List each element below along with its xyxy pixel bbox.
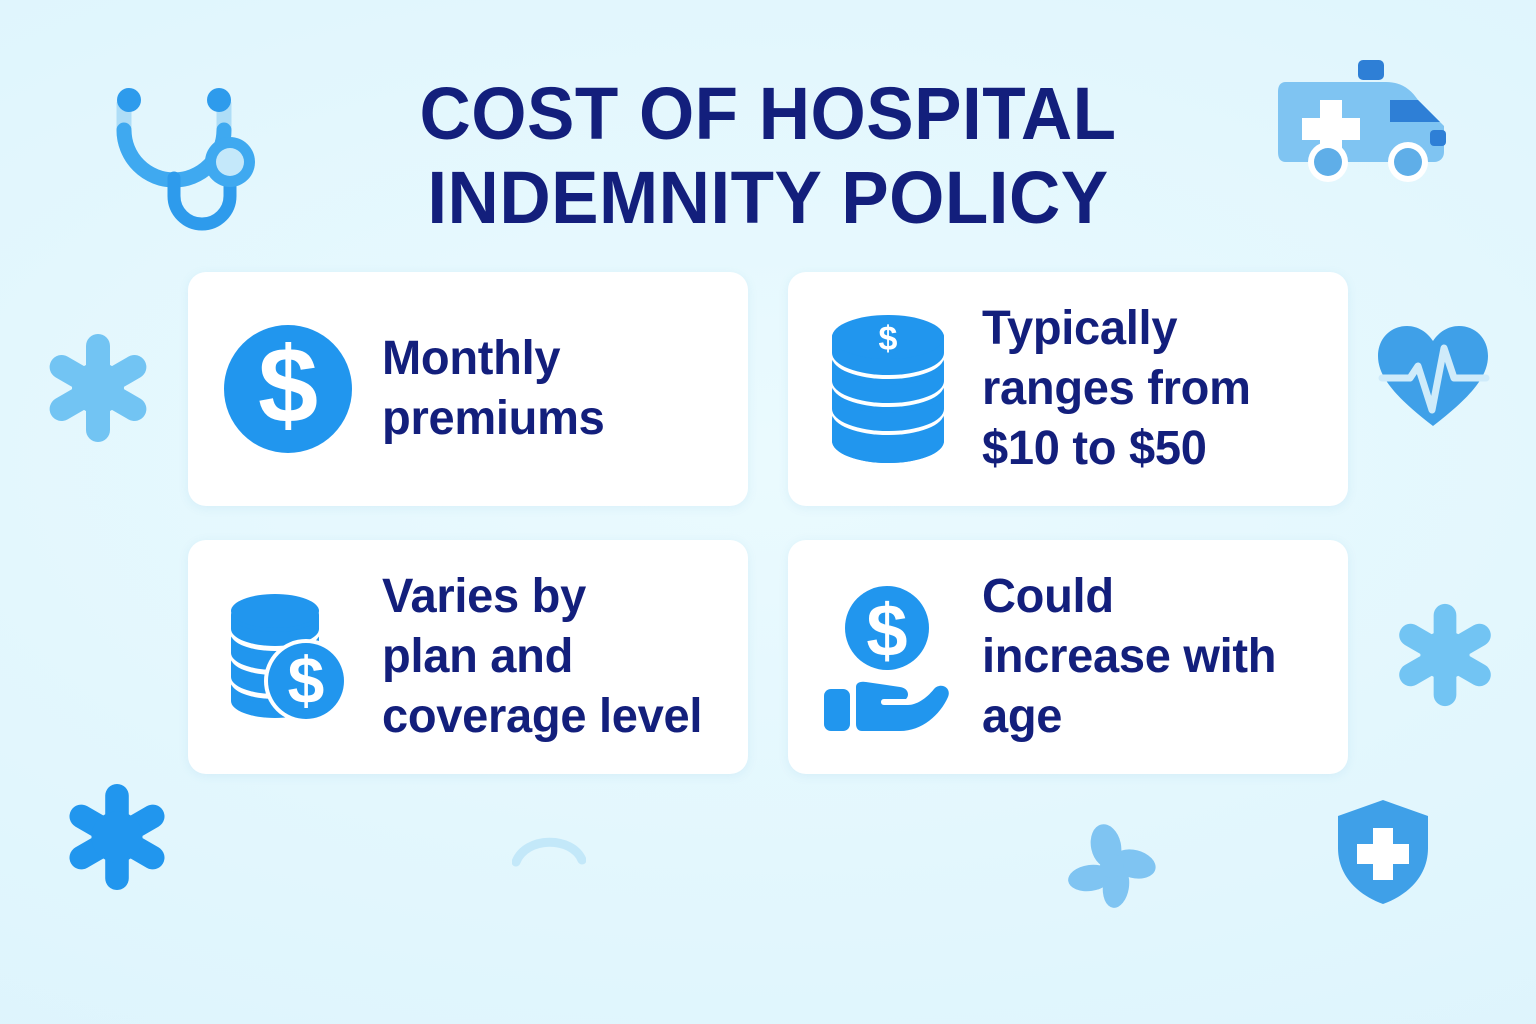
heart-pulse-icon: [1374, 322, 1492, 432]
card-increase-with-age[interactable]: $ Could increase with age: [788, 540, 1348, 774]
asterisk-icon: [62, 782, 172, 892]
svg-text:$: $: [866, 589, 907, 672]
asterisk-icon: [1392, 602, 1498, 708]
dollar-coin-icon: $: [222, 314, 354, 464]
svg-text:$: $: [288, 643, 325, 717]
card-label: Monthly premiums: [382, 329, 604, 449]
svg-text:$: $: [258, 324, 318, 445]
svg-text:$: $: [879, 320, 898, 358]
shield-cross-icon: [1334, 798, 1432, 906]
stethoscope-icon: [88, 62, 260, 234]
card-varies-by-plan[interactable]: $ Varies by plan and coverage level: [188, 540, 748, 774]
ambulance-icon: [1276, 58, 1456, 184]
cards-grid: $ Monthly premiums: [188, 272, 1348, 774]
flower-icon: [1066, 822, 1158, 908]
asterisk-icon: [42, 332, 154, 444]
hand-holding-coin-icon: $: [822, 582, 954, 732]
card-monthly-premiums[interactable]: $ Monthly premiums: [188, 272, 748, 506]
arc-icon: [512, 828, 586, 868]
coin-stack-icon: $: [822, 314, 954, 464]
card-label: Could increase with age: [982, 567, 1276, 747]
coin-stack-with-coin-icon: $: [222, 582, 354, 732]
card-price-range[interactable]: $ Typically ranges from $10 to $50: [788, 272, 1348, 506]
card-label: Typically ranges from $10 to $50: [982, 299, 1251, 479]
card-label: Varies by plan and coverage level: [382, 567, 702, 747]
